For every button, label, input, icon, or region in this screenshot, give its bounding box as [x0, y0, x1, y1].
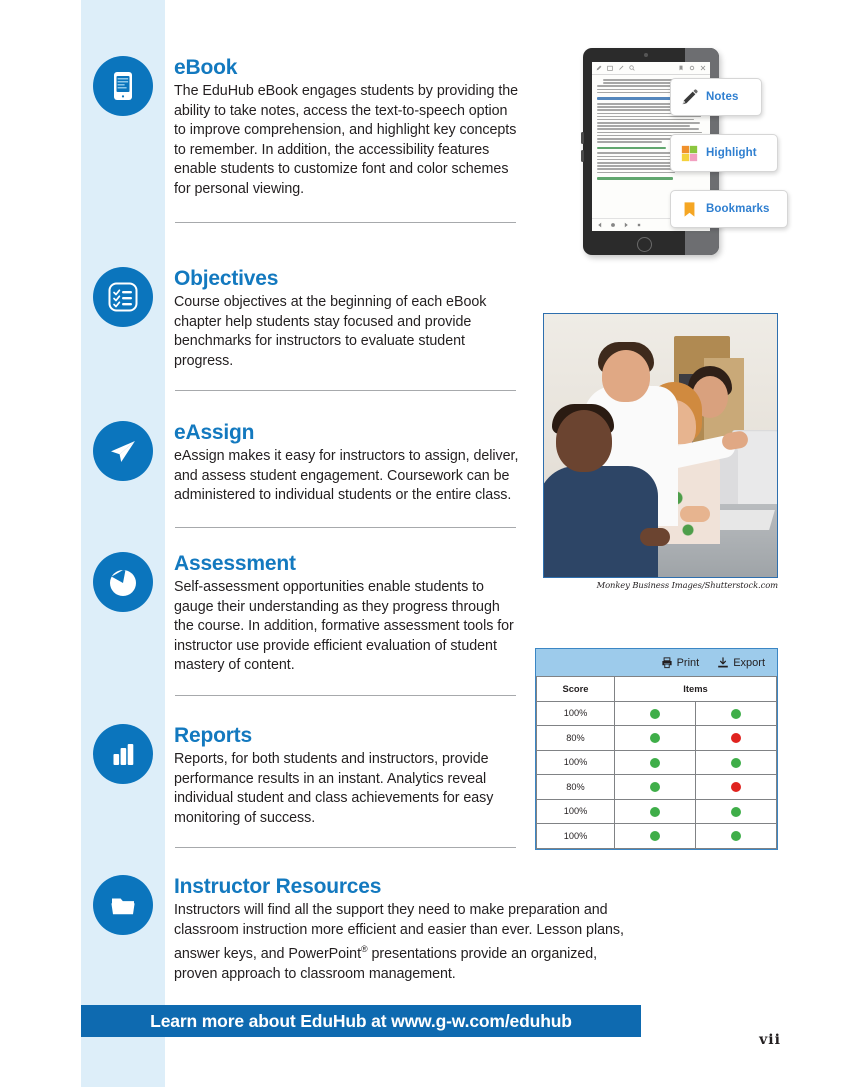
highlight-card-label: Highlight: [706, 147, 757, 159]
cell-score: 80%: [537, 726, 615, 751]
section-divider: [175, 390, 516, 391]
close-toolbar-icon: [700, 65, 706, 71]
feature-description: The EduHub eBook engages students by pro…: [174, 82, 519, 200]
pencil-icon: [681, 89, 698, 106]
bar-chart-icon: [93, 724, 153, 784]
classroom-computer-lab-photo: [543, 313, 778, 578]
cell-item-status: [615, 701, 696, 726]
feature-description: Course objectives at the beginning of ea…: [174, 293, 519, 371]
status-dot-correct: [650, 758, 660, 768]
cell-item-status: [696, 799, 777, 824]
tablet-ebook-icon: [93, 56, 153, 116]
status-dot-incorrect: [731, 733, 741, 743]
table-header-row: Score Items: [537, 677, 777, 702]
registered-trademark-mark: ®: [361, 944, 368, 954]
next-page-icon: [636, 222, 642, 228]
feature-title: Assessment: [174, 552, 519, 576]
tablet-home-button: [637, 237, 652, 252]
paper-plane-icon: [93, 421, 153, 481]
cell-item-status: [696, 726, 777, 751]
bookmark-icon: [681, 201, 698, 218]
checklist-icon: [93, 267, 153, 327]
section-divider: [175, 847, 516, 848]
status-dot-correct: [731, 807, 741, 817]
table-row: 100%: [537, 799, 777, 824]
search-toolbar-icon: [629, 65, 635, 71]
status-dot-correct: [731, 831, 741, 841]
feature-description: eAssign makes it easy for instructors to…: [174, 447, 519, 506]
report-toolbar: Print Export: [536, 649, 777, 676]
pie-chart-icon: [93, 552, 153, 612]
highlighter-toolbar-icon: [618, 65, 624, 71]
learn-more-banner-text: Learn more about EduHub at www.g-w.com/e…: [150, 1011, 572, 1032]
cell-score: 80%: [537, 775, 615, 800]
photo-credit-caption: Monkey Business Images/Shutterstock.com: [543, 580, 778, 590]
pencil-toolbar-icon: [596, 65, 602, 71]
status-dot-correct: [731, 758, 741, 768]
print-button[interactable]: Print: [661, 657, 700, 669]
bookmark-toolbar-icon: [678, 65, 684, 71]
column-header-score: Score: [537, 677, 615, 702]
bookmarks-card[interactable]: Bookmarks: [670, 190, 788, 228]
cell-item-status: [696, 775, 777, 800]
column-header-items: Items: [615, 677, 777, 702]
cell-item-status: [696, 701, 777, 726]
report-table-body: 100%80%100%80%100%100%: [537, 701, 777, 848]
report-data-table: Score Items 100%80%100%80%100%100%: [536, 676, 777, 849]
feature-description: Instructors will find all the support th…: [174, 901, 644, 984]
notes-card-label: Notes: [706, 91, 738, 103]
printer-icon: [661, 657, 673, 669]
status-dot-correct: [650, 807, 660, 817]
tablet-volume-button: [581, 132, 584, 144]
settings-toolbar-icon: [689, 65, 695, 71]
highlight-swatches-icon: [681, 145, 698, 162]
bookmarks-card-label: Bookmarks: [706, 203, 770, 215]
export-button[interactable]: Export: [717, 657, 765, 669]
page-number: vii: [740, 1032, 800, 1048]
cell-item-status: [615, 799, 696, 824]
highlight-card[interactable]: Highlight: [670, 134, 778, 172]
print-label: Print: [677, 657, 700, 669]
status-dot-correct: [650, 733, 660, 743]
section-divider: [175, 695, 516, 696]
feature-title: Objectives: [174, 267, 519, 291]
feature-title: eAssign: [174, 421, 519, 445]
table-row: 80%: [537, 726, 777, 751]
feature-title: Instructor Resources: [174, 875, 644, 899]
export-label: Export: [733, 657, 765, 669]
cell-score: 100%: [537, 701, 615, 726]
section-divider: [175, 222, 516, 223]
feature-title: eBook: [174, 56, 519, 80]
cell-item-status: [696, 750, 777, 775]
previous-page-icon: [597, 222, 603, 228]
tablet-camera-dot: [644, 53, 648, 57]
cell-item-status: [615, 824, 696, 849]
calendar-toolbar-icon: [607, 65, 613, 71]
cell-item-status: [615, 775, 696, 800]
status-dot-correct: [731, 709, 741, 719]
feature-description: Reports, for both students and instructo…: [174, 750, 519, 828]
table-row: 100%: [537, 750, 777, 775]
reports-table-widget: Print Export Score Items 100%80%100%80%1…: [535, 648, 778, 850]
status-dot-correct: [650, 831, 660, 841]
tablet-power-button: [581, 150, 584, 162]
export-download-icon: [717, 657, 729, 669]
ebook-toolbar: [592, 62, 710, 75]
feature-description: Self-assessment opportunities enable stu…: [174, 578, 519, 676]
cell-item-status: [696, 824, 777, 849]
section-divider: [175, 527, 516, 528]
learn-more-banner[interactable]: Learn more about EduHub at www.g-w.com/e…: [81, 1005, 641, 1037]
status-dot-incorrect: [731, 782, 741, 792]
cell-score: 100%: [537, 799, 615, 824]
table-row: 100%: [537, 701, 777, 726]
ebook-tablet-illustration: Notes Highlight Bookmarks: [583, 48, 753, 258]
status-dot-correct: [650, 782, 660, 792]
zoom-icon: [610, 222, 616, 228]
feature-title: Reports: [174, 724, 519, 748]
notes-card[interactable]: Notes: [670, 78, 762, 116]
cell-item-status: [615, 726, 696, 751]
cell-item-status: [615, 750, 696, 775]
play-audio-icon: [623, 222, 629, 228]
folder-icon: [93, 875, 153, 935]
table-row: 80%: [537, 775, 777, 800]
cell-score: 100%: [537, 824, 615, 849]
status-dot-correct: [650, 709, 660, 719]
table-row: 100%: [537, 824, 777, 849]
cell-score: 100%: [537, 750, 615, 775]
